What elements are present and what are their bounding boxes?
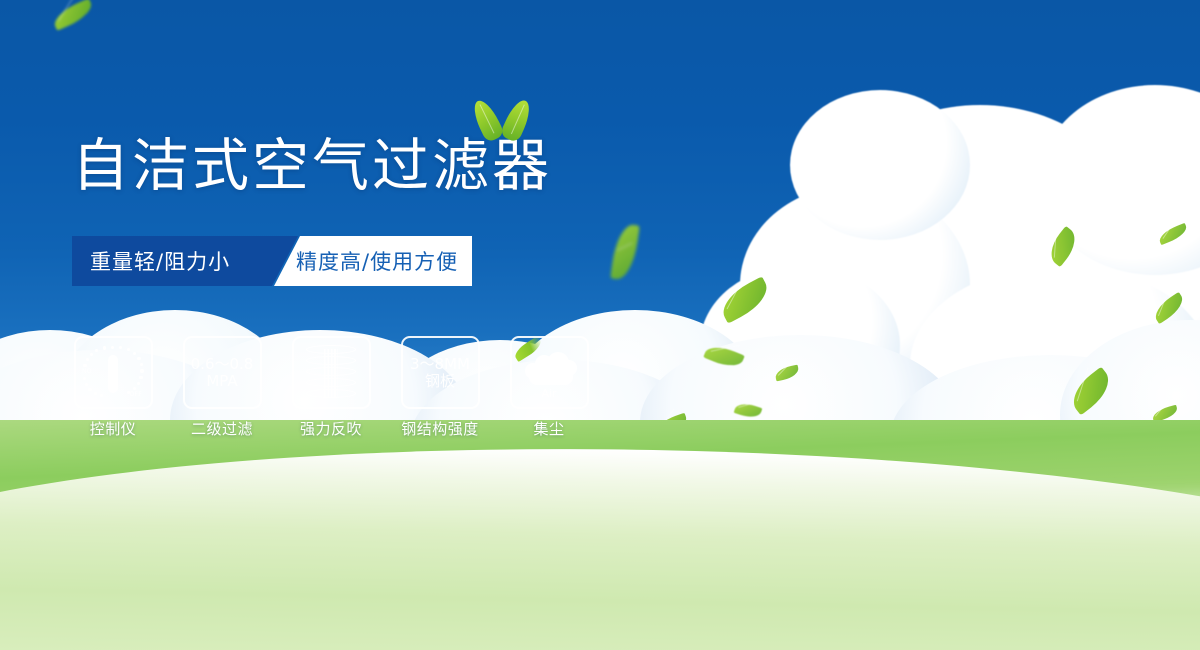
air-cloud-icon: Air — [519, 347, 579, 399]
feature-icon-box: NO OFF — [74, 336, 153, 409]
tagline-badge-right: 精度高/使用方便 — [274, 236, 472, 286]
feature-item-pressure[interactable]: 0.6〜0.8 MPA 二级过滤 — [181, 336, 263, 439]
gauge-label-no: NO — [82, 368, 92, 375]
air-cloud-text: Air — [519, 387, 579, 400]
feature-item-dustcollect[interactable]: Air 集尘 — [508, 336, 590, 439]
tagline-badge: 重量轻/阻力小 精度高/使用方便 — [72, 236, 462, 286]
leaf-decoration — [774, 365, 800, 382]
gauge-needle — [108, 355, 118, 393]
steel-value-line1: 3〜8MM — [410, 356, 470, 373]
feature-icon-box: 3〜8MM 钢板 — [401, 336, 480, 409]
filter-cartridge-icon — [306, 345, 356, 401]
leaf-decoration — [1044, 226, 1083, 267]
leaf-decoration — [610, 223, 640, 282]
leaf-decoration — [703, 342, 745, 372]
leaf-decoration — [1150, 292, 1187, 324]
feature-icon-box: Air — [510, 336, 589, 409]
tagline-right-text: 精度高/使用方便 — [296, 246, 458, 276]
leaf-decoration — [1065, 367, 1117, 416]
feature-icon-box — [292, 336, 371, 409]
pressure-value-line2: MPA — [206, 373, 237, 390]
promotional-banner: 自洁式空气过滤器 重量轻/阻力小 精度高/使用方便 — [0, 0, 1200, 650]
feature-label: 钢结构强度 — [401, 418, 479, 439]
leaf-decoration — [716, 276, 774, 323]
feature-item-backblow[interactable]: 强力反吹 — [290, 336, 372, 439]
feature-label: 集尘 — [533, 418, 564, 439]
cloud-right — [680, 95, 1200, 455]
leaf-decoration — [734, 400, 763, 420]
title-block: 自洁式空气过滤器 — [72, 138, 552, 195]
tagline-badge-left: 重量轻/阻力小 — [72, 236, 298, 286]
leaf-decoration — [50, 0, 95, 31]
gauge-icon: NO OFF — [82, 344, 144, 402]
feature-label: 强力反吹 — [300, 418, 362, 439]
leaf-decoration — [1157, 223, 1189, 245]
grass-field — [0, 420, 1200, 650]
gauge-label-off: OFF — [129, 391, 142, 398]
feature-list: NO OFF 控制仪 0.6〜0.8 MPA 二级过滤 — [72, 336, 590, 439]
feature-label: 二级过滤 — [191, 418, 253, 439]
page-title: 自洁式空气过滤器 — [72, 138, 552, 195]
feature-icon-box: 0.6〜0.8 MPA — [183, 336, 262, 409]
pressure-value-line1: 0.6〜0.8 — [191, 356, 254, 373]
feature-item-controller[interactable]: NO OFF 控制仪 — [72, 336, 154, 439]
feature-label: 控制仪 — [90, 418, 137, 439]
feature-item-steel[interactable]: 3〜8MM 钢板 钢结构强度 — [399, 336, 481, 439]
leaf-sprout-icon — [471, 99, 541, 145]
steel-value-line2: 钢板 — [425, 373, 455, 390]
tagline-left-text: 重量轻/阻力小 — [90, 246, 230, 276]
